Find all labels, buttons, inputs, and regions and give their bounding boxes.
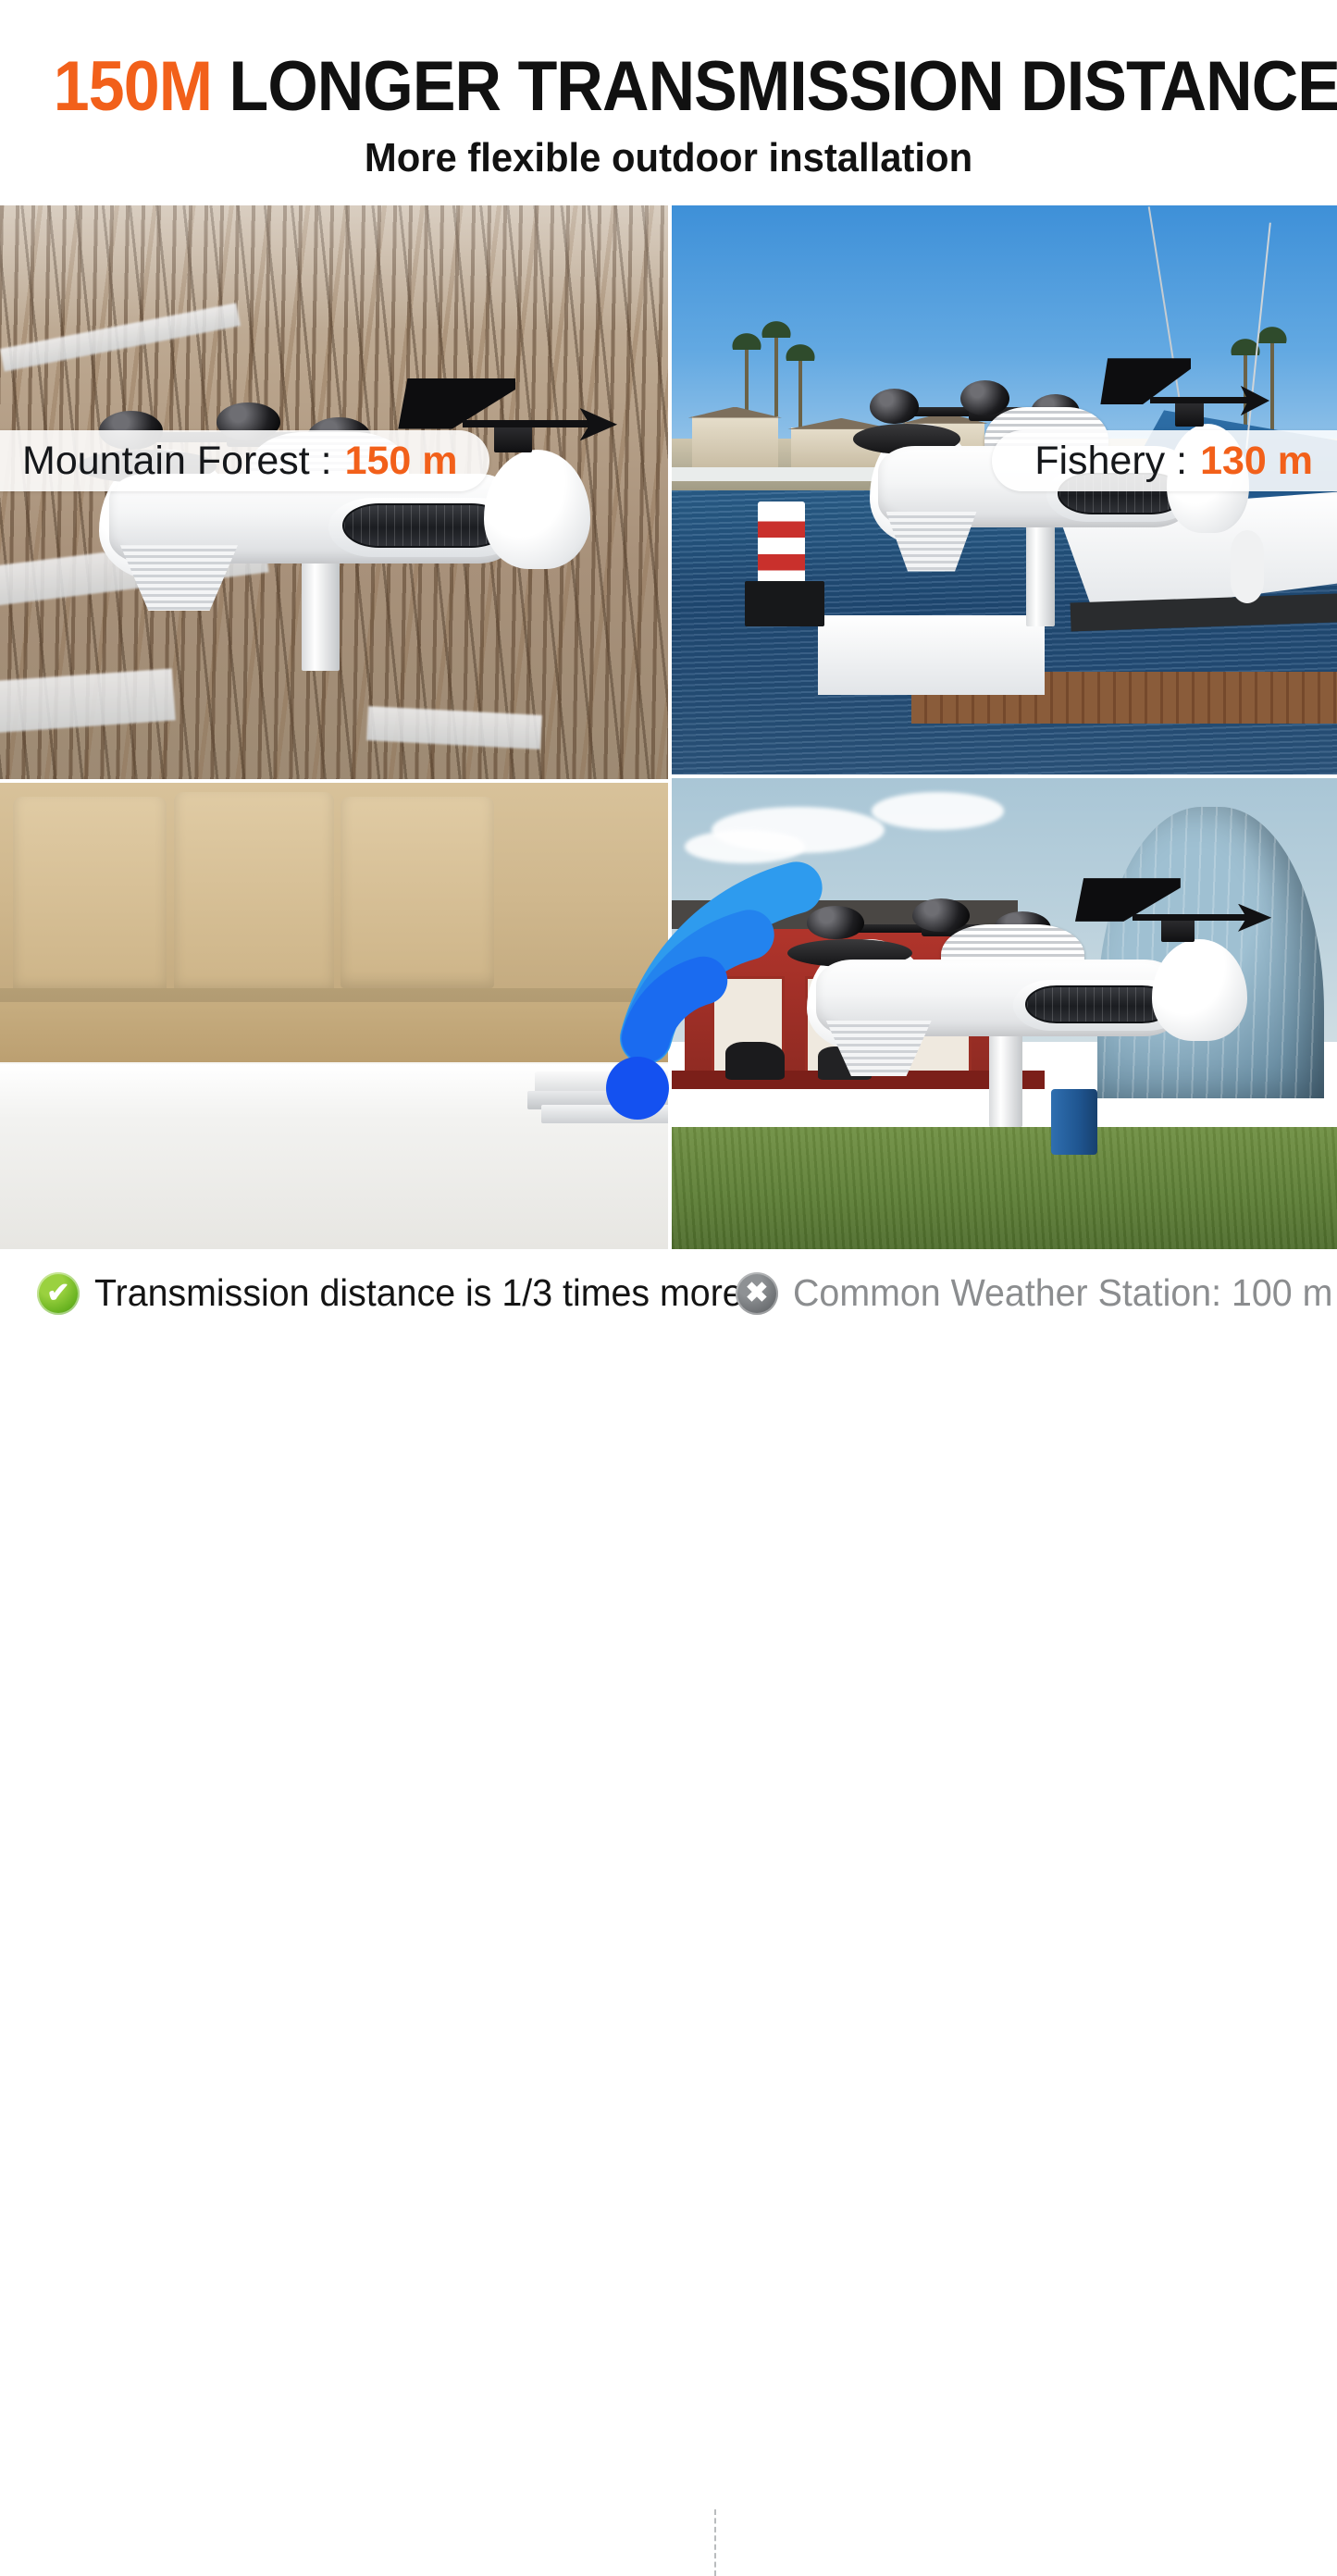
wifi-signal-icon — [516, 807, 868, 1140]
header-band: 150M LONGER TRANSMISSION DISTANCE More f… — [0, 0, 1337, 205]
cloud — [872, 792, 1005, 830]
scene-mountain-forest: Mountain Forest : 150 m — [0, 205, 668, 779]
wind-vane-shaft — [463, 420, 601, 427]
farm-field — [672, 1127, 1337, 1249]
footer-divider — [714, 2509, 716, 2576]
footer-negative-text: Common Weather Station: 100 m — [793, 1271, 1332, 1315]
label-text: Mountain Forest : — [22, 439, 332, 484]
headline-rest: LONGER TRANSMISSION DISTANCE — [229, 47, 1337, 126]
shoreline-house — [692, 416, 778, 467]
page-title: 150M LONGER TRANSMISSION DISTANCE — [54, 46, 1283, 127]
solar-panel — [1025, 985, 1173, 1023]
solar-panel — [342, 503, 508, 548]
weather-sensor-forest — [67, 360, 601, 658]
cross-circle-icon: ✖ — [736, 1272, 778, 1315]
sofa-cushion — [340, 797, 494, 988]
scene-grid: Mountain Forest : 150 m — [0, 205, 1337, 1249]
anemometer-cup — [960, 380, 1009, 415]
wifi-dot — [606, 1057, 669, 1120]
dock-equipment-box — [745, 581, 824, 626]
rain-funnel — [886, 512, 977, 572]
label-mountain-forest: Mountain Forest : 150 m — [0, 430, 489, 491]
headline-accent: 150M — [54, 47, 212, 126]
lighthouse-ornament — [758, 502, 804, 592]
dock-platform — [818, 615, 1044, 695]
footer-negative-claim: ✖ Common Weather Station: 100 m — [736, 1249, 1337, 1337]
wind-vane-shaft — [1150, 397, 1257, 404]
label-value: 130 m — [1200, 439, 1313, 484]
rain-funnel — [120, 545, 238, 611]
label-fishery: Fishery : 130 m — [992, 430, 1337, 491]
wind-vane-housing — [1152, 939, 1248, 1041]
footer-positive-text: Transmission distance is 1/3 times more — [94, 1271, 743, 1315]
footer-band: ✔ Transmission distance is 1/3 times mor… — [0, 1249, 1337, 1337]
check-circle-icon: ✔ — [37, 1272, 80, 1315]
sofa-cushion — [13, 797, 167, 993]
scene-fishery: Fishery : 130 m — [672, 205, 1337, 774]
anemometer-cup — [912, 898, 970, 932]
anemometer-cup — [870, 389, 919, 424]
label-value: 150 m — [345, 439, 458, 484]
page-subtitle: More flexible outdoor installation — [33, 135, 1304, 181]
wind-vane-shaft — [1133, 914, 1257, 921]
label-text: Fishery : — [1034, 439, 1187, 484]
product-feature-page: 150M LONGER TRANSMISSION DISTANCE More f… — [0, 0, 1337, 1337]
wind-vane-housing — [484, 450, 591, 569]
sofa-cushion — [174, 792, 334, 993]
footer-positive-claim: ✔ Transmission distance is 1/3 times mor… — [37, 1249, 770, 1337]
